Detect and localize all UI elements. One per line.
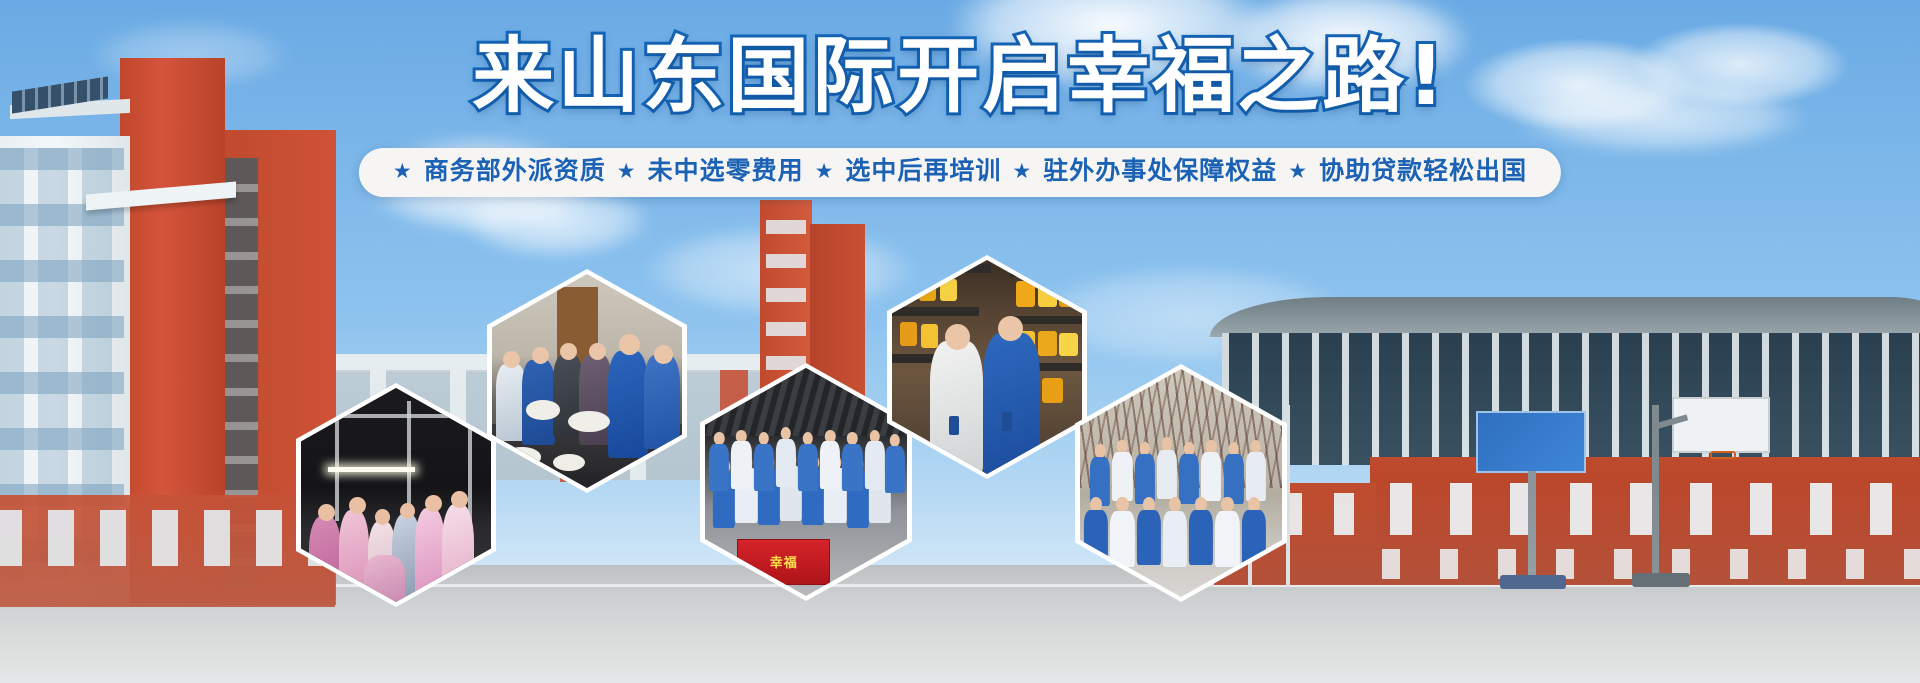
feature-item: 协助贷款轻松出国 [1319,157,1527,186]
feature-item: 选中后再培训 [845,157,1001,186]
star-icon: ★ [1012,161,1032,182]
basketball-hoop-white [1640,397,1770,587]
promo-banner: 来山东国际开启幸福之路! ★ 商务部外派资质 ★ 未中选零费用 ★ 选中后再培训… [0,0,1920,683]
feature-item: 商务部外派资质 [424,157,606,186]
campus-building-left [0,40,335,600]
basketball-hoop-blue [1476,411,1596,587]
star-icon: ★ [617,161,637,182]
feature-item: 驻外办事处保障权益 [1043,157,1277,186]
star-icon: ★ [393,161,413,182]
features-pill: ★ 商务部外派资质 ★ 未中选零费用 ★ 选中后再培训 ★ 驻外办事处保障权益 … [359,148,1561,197]
star-icon: ★ [1288,161,1308,182]
star-icon: ★ [815,161,835,182]
features-list: ★ 商务部外派资质 ★ 未中选零费用 ★ 选中后再培训 ★ 驻外办事处保障权益 … [393,157,1527,186]
feature-item: 未中选零费用 [648,157,804,186]
page-title: 来山东国际开启幸福之路! [0,36,1920,118]
